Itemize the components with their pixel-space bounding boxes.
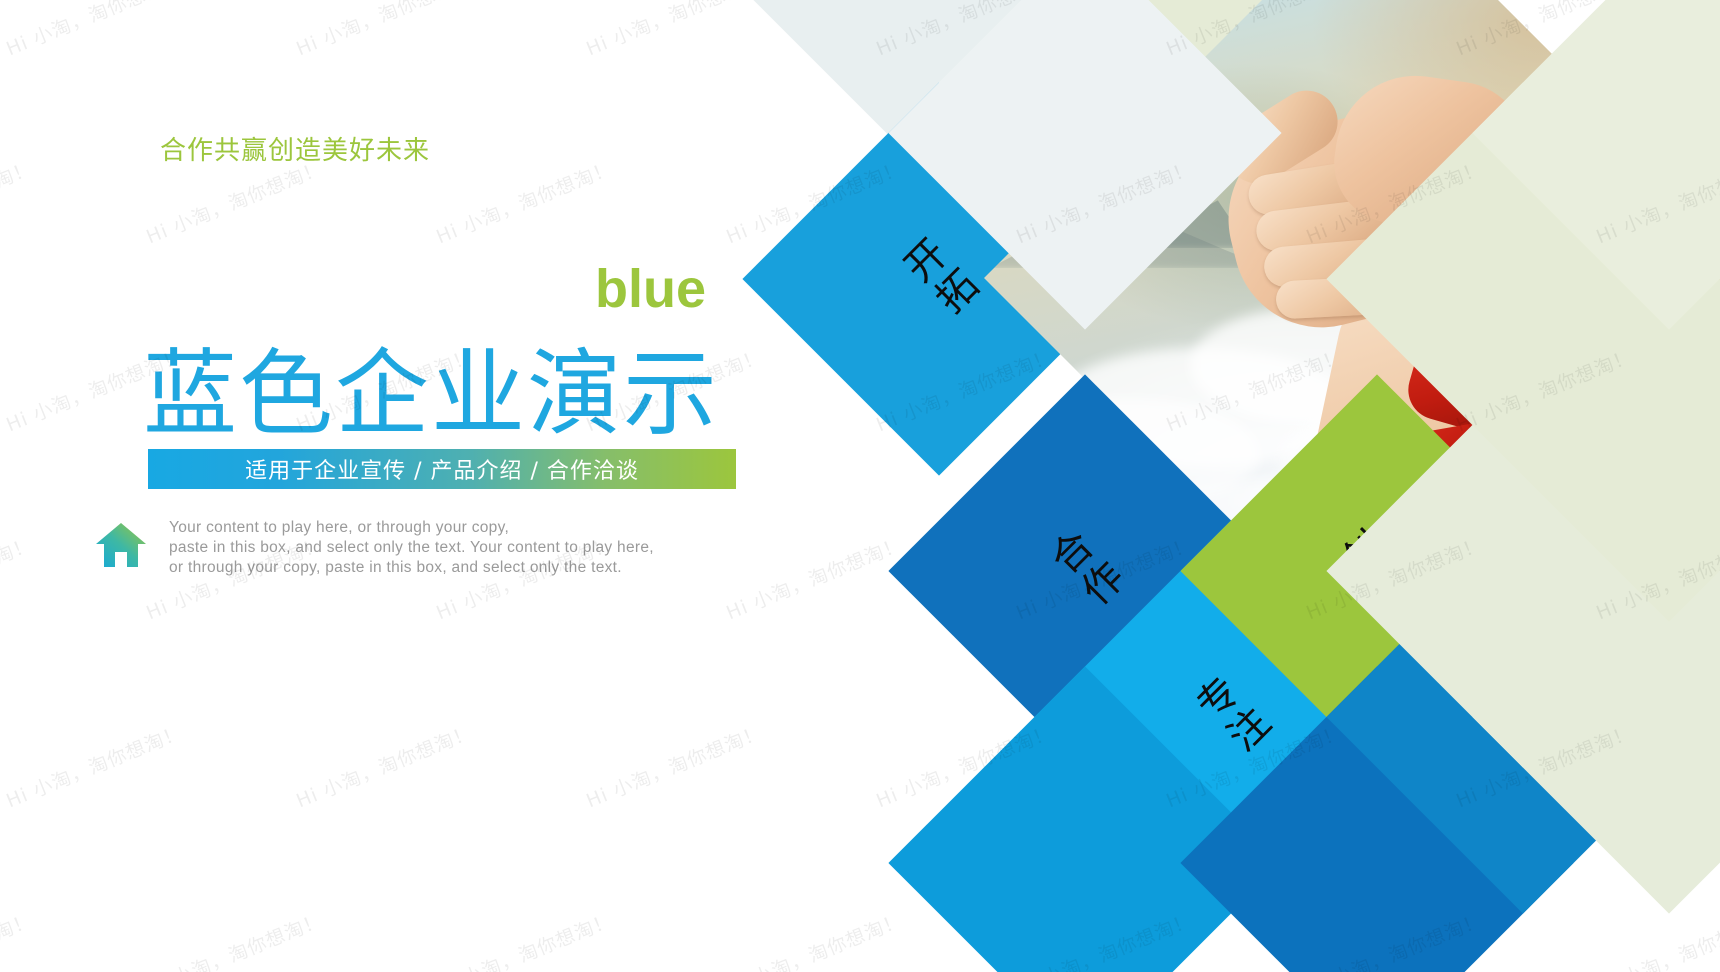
home-icon [95, 522, 147, 573]
left-text-panel: 合作共赢创造美好未来 blue 蓝色企业演示 适用于企业宣传 / 产品介绍 / … [0, 0, 760, 972]
subtitle-text: 适用于企业宣传 / 产品介绍 / 合作洽谈 [245, 453, 639, 485]
body-text: Your content to play here, or through yo… [169, 518, 654, 578]
page-title: 蓝色企业演示 [143, 318, 719, 454]
subtitle-gradient-bar: 适用于企业宣传 / 产品介绍 / 合作洽谈 [148, 449, 736, 489]
presentation-slide: 开拓 [0, 0, 1720, 972]
body-block: Your content to play here, or through yo… [95, 518, 735, 578]
tagline: 合作共赢创造美好未来 [160, 130, 430, 167]
tile-hezuo-label: 合作 [1033, 519, 1136, 622]
tile-zhuanzhu-label: 专注 [1179, 665, 1282, 768]
body-line-3: or through your copy, paste in this box,… [169, 558, 654, 578]
body-line-1: Your content to play here, or through yo… [169, 518, 654, 538]
tile-kaituo-label: 开拓 [887, 227, 990, 330]
diamond-mosaic: 开拓 [690, 0, 1720, 972]
eyebrow-blue: blue [595, 258, 706, 320]
body-line-2: paste in this box, and select only the t… [169, 538, 654, 558]
